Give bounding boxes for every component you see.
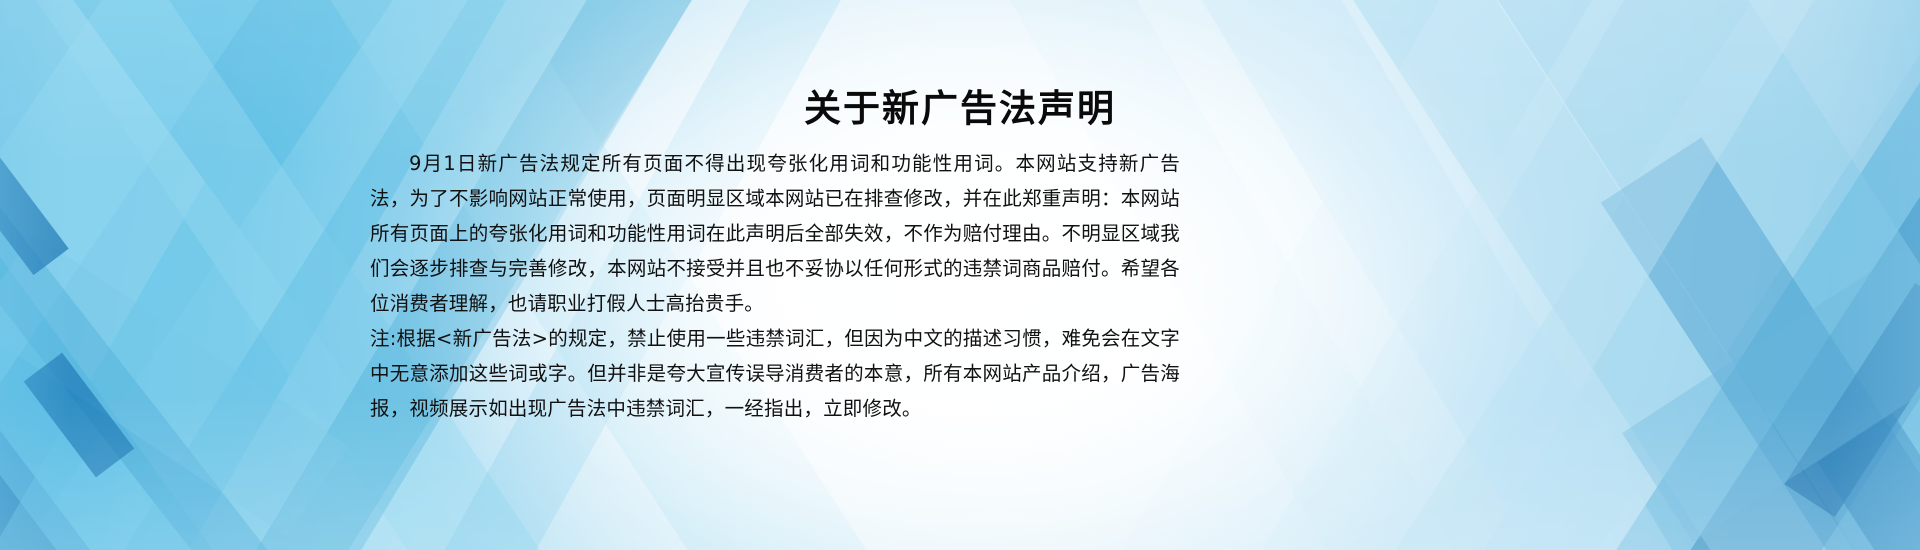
statement-body: 9月1日新广告法规定所有页面不得出现夸张化用词和功能性用词。本网站支持新广告法，… — [370, 146, 1180, 426]
statement-paragraph-main: 9月1日新广告法规定所有页面不得出现夸张化用词和功能性用词。本网站支持新广告法，… — [370, 146, 1180, 321]
page-title: 关于新广告法声明 — [0, 86, 1920, 132]
statement-content: 关于新广告法声明 9月1日新广告法规定所有页面不得出现夸张化用词和功能性用词。本… — [0, 0, 1920, 550]
advertising-law-statement-banner: 关于新广告法声明 9月1日新广告法规定所有页面不得出现夸张化用词和功能性用词。本… — [0, 0, 1920, 550]
statement-paragraph-note: 注:根据<新广告法>的规定，禁止使用一些违禁词汇，但因为中文的描述习惯，难免会在… — [370, 321, 1180, 426]
